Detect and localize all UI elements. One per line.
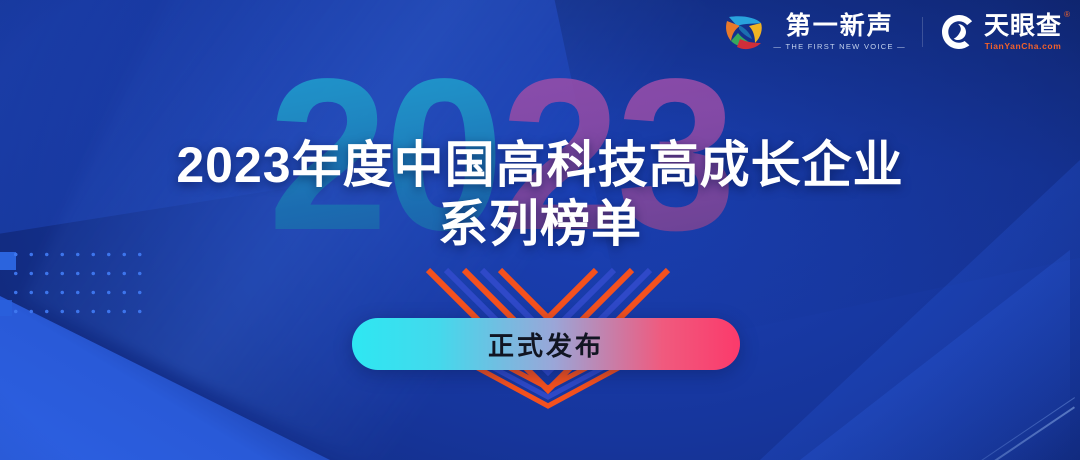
headline-block: 2023年度中国高科技高成长企业 系列榜单 (0, 136, 1080, 253)
tianyancha-tagline: TianYanCha.com (985, 41, 1062, 51)
release-status-pill[interactable]: 正式发布 (352, 318, 740, 370)
headline-line-2: 系列榜单 (0, 195, 1080, 254)
logo-tianyancha[interactable]: 天眼查 TianYanCha.com ® (939, 12, 1062, 52)
release-status-label: 正式发布 (488, 326, 604, 363)
tianyancha-name-cn: 天眼查 (984, 13, 1062, 39)
promo-banner: 2023 2 (0, 0, 1080, 460)
diyixinsheng-tagline: — THE FIRST NEW VOICE — (773, 42, 906, 51)
headline-line-1: 2023年度中国高科技高成长企业 (0, 136, 1080, 195)
logo-divider (922, 17, 923, 47)
tianyancha-eye-shutter-logo-icon (939, 12, 979, 52)
tianyancha-trademark-mark: ® (1064, 10, 1070, 19)
chevron-arrow-decoration-lower (468, 366, 628, 412)
diyixinsheng-swoosh-logo-icon (721, 11, 767, 53)
logo-bar: 第一新声 — THE FIRST NEW VOICE — 天眼查 TianYan… (721, 11, 1062, 53)
diyixinsheng-name-cn: 第一新声 (786, 13, 894, 39)
logo-diyixinsheng[interactable]: 第一新声 — THE FIRST NEW VOICE — (721, 11, 906, 53)
